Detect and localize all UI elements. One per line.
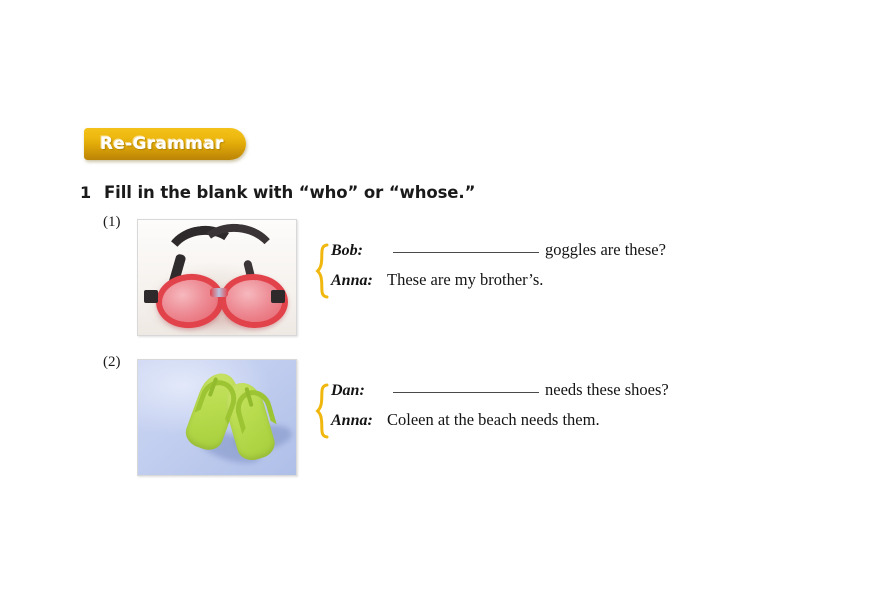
worksheet-page: { "badge": { "label": "Re-Grammar", "bg_… (0, 0, 873, 612)
speaker-name-bob: Bob: (331, 243, 387, 259)
instruction-text: Fill in the blank with “who” or “whose.” (104, 183, 475, 202)
dialogue-lines-2: Dan: needs these shoes? Anna: Coleen at … (331, 382, 669, 440)
dialogue-lines-1: Bob: goggles are these? Anna: These are … (331, 242, 666, 300)
goggles-clip-right (271, 290, 285, 303)
curly-brace-icon (315, 382, 329, 440)
utterance-anna-1: These are my brother’s. (387, 272, 543, 289)
answer-blank-2[interactable] (393, 392, 539, 393)
dialogue-line-anna-1: Anna: These are my brother’s. (331, 272, 666, 289)
utterance-anna-2: Coleen at the beach needs them. (387, 412, 600, 429)
goggles-clip-left (144, 290, 158, 303)
item-label-2: (2) (103, 354, 121, 371)
dialogue-line-dan: Dan: needs these shoes? (331, 382, 669, 399)
flipflops-illustration (138, 360, 296, 475)
dialogue-block-1: Bob: goggles are these? Anna: These are … (315, 242, 666, 300)
photo-goggles (137, 219, 297, 336)
utterance-dan: needs these shoes? (387, 382, 669, 399)
answer-blank-1[interactable] (393, 252, 539, 253)
instruction-line: 1 Fill in the blank with “who” or “whose… (80, 183, 475, 202)
utterance-bob: goggles are these? (387, 242, 666, 259)
section-badge-wrapper: Re-Grammar (84, 128, 246, 160)
speaker-name-anna-1: Anna: (331, 273, 387, 289)
section-badge-re-grammar: Re-Grammar (84, 128, 246, 160)
utterance-bob-after-blank: goggles are these? (545, 240, 666, 259)
dialogue-line-bob: Bob: goggles are these? (331, 242, 666, 259)
question-number: 1 (80, 183, 104, 202)
goggles-nose-bridge (210, 288, 228, 297)
utterance-dan-after-blank: needs these shoes? (545, 380, 669, 399)
dialogue-block-2: Dan: needs these shoes? Anna: Coleen at … (315, 382, 669, 440)
curly-brace-icon (315, 242, 329, 300)
goggles-illustration (138, 220, 296, 335)
speaker-name-anna-2: Anna: (331, 413, 387, 429)
dialogue-line-anna-2: Anna: Coleen at the beach needs them. (331, 412, 669, 429)
speaker-name-dan: Dan: (331, 383, 387, 399)
item-label-1: (1) (103, 214, 121, 231)
photo-flipflops (137, 359, 297, 476)
